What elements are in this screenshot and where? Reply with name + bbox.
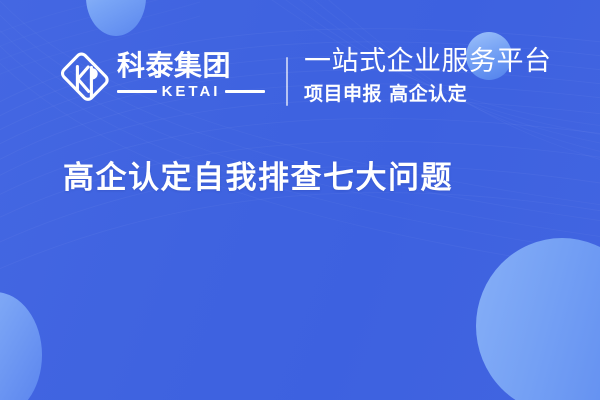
- tagline-main: 一站式企业服务平台: [304, 46, 552, 78]
- banner-header: 科泰集团 KETAI 一站式企业服务平台 项目申报 高企认定: [0, 0, 600, 130]
- brand-name-cn: 科泰集团: [117, 50, 269, 82]
- tagline-sub: 项目申报 高企认定: [304, 82, 552, 106]
- brand-dash-left: [117, 90, 157, 93]
- brand-wordmark: 科泰集团 KETAI: [117, 50, 269, 99]
- brand-dash-right: [225, 90, 265, 93]
- ketai-diamond-monogram-icon: [61, 52, 109, 106]
- brand-latin-row: KETAI: [117, 84, 265, 99]
- decor-circle-right: [476, 238, 600, 400]
- page-title: 高企认定自我排查七大问题: [63, 158, 453, 198]
- brand-name-latin: KETAI: [162, 84, 221, 99]
- header-divider: [286, 57, 288, 106]
- tagline-block: 一站式企业服务平台 项目申报 高企认定: [304, 46, 552, 106]
- decor-circle-left: [0, 292, 42, 400]
- promo-banner: 科泰集团 KETAI 一站式企业服务平台 项目申报 高企认定 高企认定自我排查七…: [0, 0, 600, 400]
